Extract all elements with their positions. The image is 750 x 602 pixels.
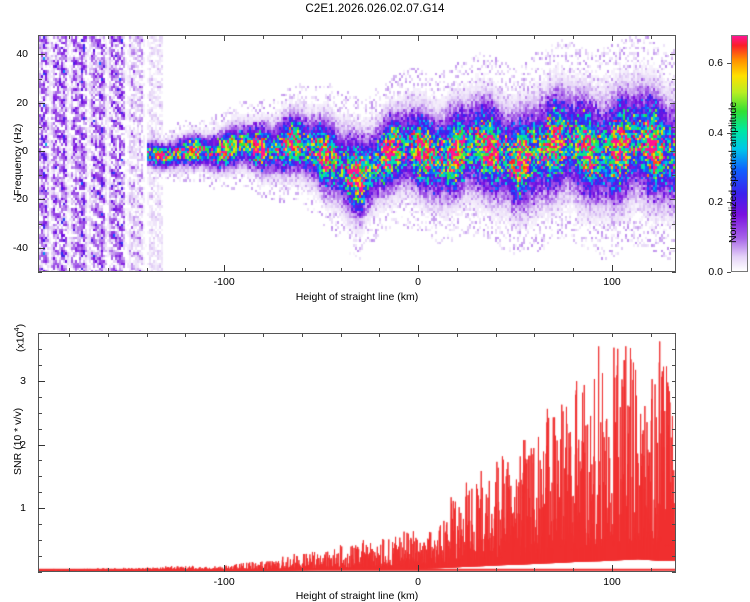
y-tick-minor	[38, 429, 42, 430]
y-tick-minor-right	[672, 556, 676, 557]
y-tick-minor-right	[672, 508, 676, 509]
x-tick-label: 100	[603, 576, 621, 588]
x-tick-minor	[573, 568, 574, 572]
y-tick-minor-right	[672, 272, 676, 273]
y-tick-minor-right	[672, 175, 676, 176]
y-tick-minor-right	[672, 540, 676, 541]
y-tick-minor	[38, 476, 42, 477]
y-tick-label: 3	[0, 375, 26, 387]
x-tick-minor	[573, 268, 574, 272]
y-tick-major	[38, 508, 45, 509]
y-tick-minor	[38, 492, 42, 493]
y-tick-minor-right	[672, 127, 676, 128]
x-tick-minor	[379, 268, 380, 272]
x-tick-minor-top	[341, 35, 342, 39]
x-tick-major	[418, 265, 419, 272]
y-tick-minor	[38, 524, 42, 525]
x-tick-minor-top	[534, 35, 535, 39]
y-tick-minor	[38, 460, 42, 461]
x-tick-minor-top	[496, 35, 497, 39]
y-tick-major	[38, 199, 45, 200]
x-tick-minor	[651, 568, 652, 572]
x-tick-minor-top	[185, 333, 186, 337]
x-tick-minor-top	[108, 333, 109, 337]
x-tick-minor	[69, 568, 70, 572]
x-tick-minor	[69, 268, 70, 272]
x-tick-minor	[496, 568, 497, 572]
bottom-xaxis-title: Height of straight line (km)	[296, 590, 419, 602]
y-tick-minor	[38, 397, 42, 398]
colorbar-title: Normalized spectral amplitude	[727, 102, 739, 243]
x-tick-minor	[263, 268, 264, 272]
y-tick-minor-right	[672, 413, 676, 414]
x-tick-minor-top	[302, 35, 303, 39]
x-tick-label: 0	[415, 576, 421, 588]
x-tick-major	[418, 565, 419, 572]
y-tick-major	[38, 151, 45, 152]
spectrogram-panel	[38, 35, 676, 272]
y-tick-minor	[38, 175, 42, 176]
x-tick-minor-top	[224, 35, 225, 41]
x-tick-minor	[108, 568, 109, 572]
x-tick-minor-top	[224, 333, 225, 337]
x-tick-minor	[651, 268, 652, 272]
x-tick-major	[612, 565, 613, 572]
y-tick-minor-right	[670, 199, 676, 200]
y-tick-label: 20	[0, 97, 28, 109]
y-tick-minor	[38, 224, 42, 225]
x-tick-minor-top	[534, 333, 535, 337]
y-tick-minor-right	[670, 54, 676, 55]
x-tick-minor	[341, 568, 342, 572]
y-tick-minor-right	[670, 103, 676, 104]
y-tick-minor-right	[670, 248, 676, 249]
x-tick-label: -100	[214, 276, 235, 288]
x-tick-minor-top	[651, 333, 652, 337]
y-tick-minor-right	[672, 476, 676, 477]
x-tick-minor-top	[69, 35, 70, 39]
bottom-yaxis-title: SNR (10 * v/v)	[12, 408, 24, 475]
y-tick-minor-right	[672, 349, 676, 350]
x-tick-minor	[457, 568, 458, 572]
y-tick-minor	[38, 79, 42, 80]
y-tick-minor	[38, 333, 42, 334]
y-tick-major	[38, 103, 45, 104]
x-tick-minor-top	[147, 333, 148, 337]
colorbar-tick	[727, 272, 731, 273]
x-tick-minor-top	[573, 333, 574, 337]
multiplier-open: (x10	[15, 332, 27, 352]
bottom-yaxis-multiplier: (x104)	[12, 324, 27, 352]
x-tick-minor-top	[651, 35, 652, 39]
x-tick-minor-top	[341, 333, 342, 337]
y-tick-minor-right	[670, 151, 676, 152]
x-tick-minor-top	[263, 35, 264, 39]
x-tick-minor-top	[185, 35, 186, 39]
y-tick-minor-right	[672, 365, 676, 366]
y-tick-minor-right	[672, 397, 676, 398]
y-tick-minor-right	[672, 79, 676, 80]
y-tick-major	[38, 381, 45, 382]
x-tick-minor-top	[418, 333, 419, 337]
y-tick-minor-right	[672, 460, 676, 461]
colorbar-tick-label: 0.6	[708, 57, 723, 69]
x-tick-minor-top	[147, 35, 148, 39]
x-tick-minor	[457, 268, 458, 272]
x-tick-minor-top	[418, 35, 419, 41]
spectrogram-canvas	[39, 36, 675, 271]
y-tick-minor-right	[672, 381, 676, 382]
snr-panel	[38, 333, 676, 572]
y-tick-label: -40	[0, 242, 28, 254]
figure-title: C2E1.2026.026.02.07.G14	[0, 3, 750, 15]
x-tick-minor-top	[612, 333, 613, 337]
x-tick-minor-top	[69, 333, 70, 337]
colorbar-tick	[727, 63, 731, 64]
x-tick-major	[612, 265, 613, 272]
x-tick-minor-top	[457, 333, 458, 337]
x-tick-minor	[379, 568, 380, 572]
x-tick-major	[224, 265, 225, 272]
snr-canvas	[39, 334, 675, 571]
x-tick-minor-top	[379, 333, 380, 337]
y-tick-major	[38, 445, 45, 446]
x-tick-minor-top	[612, 35, 613, 41]
x-tick-minor	[534, 268, 535, 272]
y-tick-minor-right	[672, 445, 676, 446]
top-xaxis-title: Height of straight line (km)	[296, 291, 419, 303]
y-tick-minor	[38, 556, 42, 557]
y-tick-minor	[38, 349, 42, 350]
y-tick-minor	[38, 540, 42, 541]
x-tick-minor	[496, 268, 497, 272]
y-tick-minor	[38, 413, 42, 414]
x-tick-minor-top	[379, 35, 380, 39]
x-tick-minor	[185, 568, 186, 572]
top-yaxis-title: Frequency (Hz)	[12, 124, 24, 196]
x-tick-minor-top	[263, 333, 264, 337]
y-tick-major	[38, 54, 45, 55]
x-tick-label: -100	[214, 576, 235, 588]
y-tick-major	[38, 248, 45, 249]
x-tick-minor	[302, 268, 303, 272]
colorbar-tick-label: 0.0	[708, 266, 723, 278]
x-tick-minor-top	[302, 333, 303, 337]
x-tick-label: 100	[603, 276, 621, 288]
y-tick-minor-right	[672, 224, 676, 225]
x-tick-minor	[341, 268, 342, 272]
x-tick-minor-top	[108, 35, 109, 39]
y-tick-minor	[38, 365, 42, 366]
x-tick-minor-top	[573, 35, 574, 39]
y-tick-minor	[38, 572, 42, 573]
x-tick-minor	[147, 568, 148, 572]
y-tick-minor-right	[672, 572, 676, 573]
figure-root: C2E1.2026.026.02.07.G14 -100010040200-20…	[0, 0, 750, 600]
x-tick-minor	[147, 268, 148, 272]
x-tick-minor-top	[457, 35, 458, 39]
y-tick-label: 40	[0, 48, 28, 60]
x-tick-major	[224, 565, 225, 572]
y-tick-label: 1	[0, 502, 26, 514]
x-tick-minor	[302, 568, 303, 572]
colorbar-tick-label: 0.4	[708, 127, 723, 139]
y-tick-minor-right	[672, 492, 676, 493]
y-tick-minor	[38, 127, 42, 128]
y-tick-minor-right	[672, 524, 676, 525]
colorbar-tick-label: 0.2	[708, 196, 723, 208]
y-tick-minor-right	[672, 429, 676, 430]
x-tick-minor-top	[496, 333, 497, 337]
x-tick-minor	[185, 268, 186, 272]
y-tick-minor	[38, 272, 42, 273]
x-tick-label: 0	[415, 276, 421, 288]
x-tick-minor	[108, 268, 109, 272]
multiplier-close: )	[15, 324, 27, 328]
multiplier-exponent: 4	[12, 327, 21, 331]
x-tick-minor	[263, 568, 264, 572]
y-tick-minor-right	[672, 333, 676, 334]
x-tick-minor	[534, 568, 535, 572]
